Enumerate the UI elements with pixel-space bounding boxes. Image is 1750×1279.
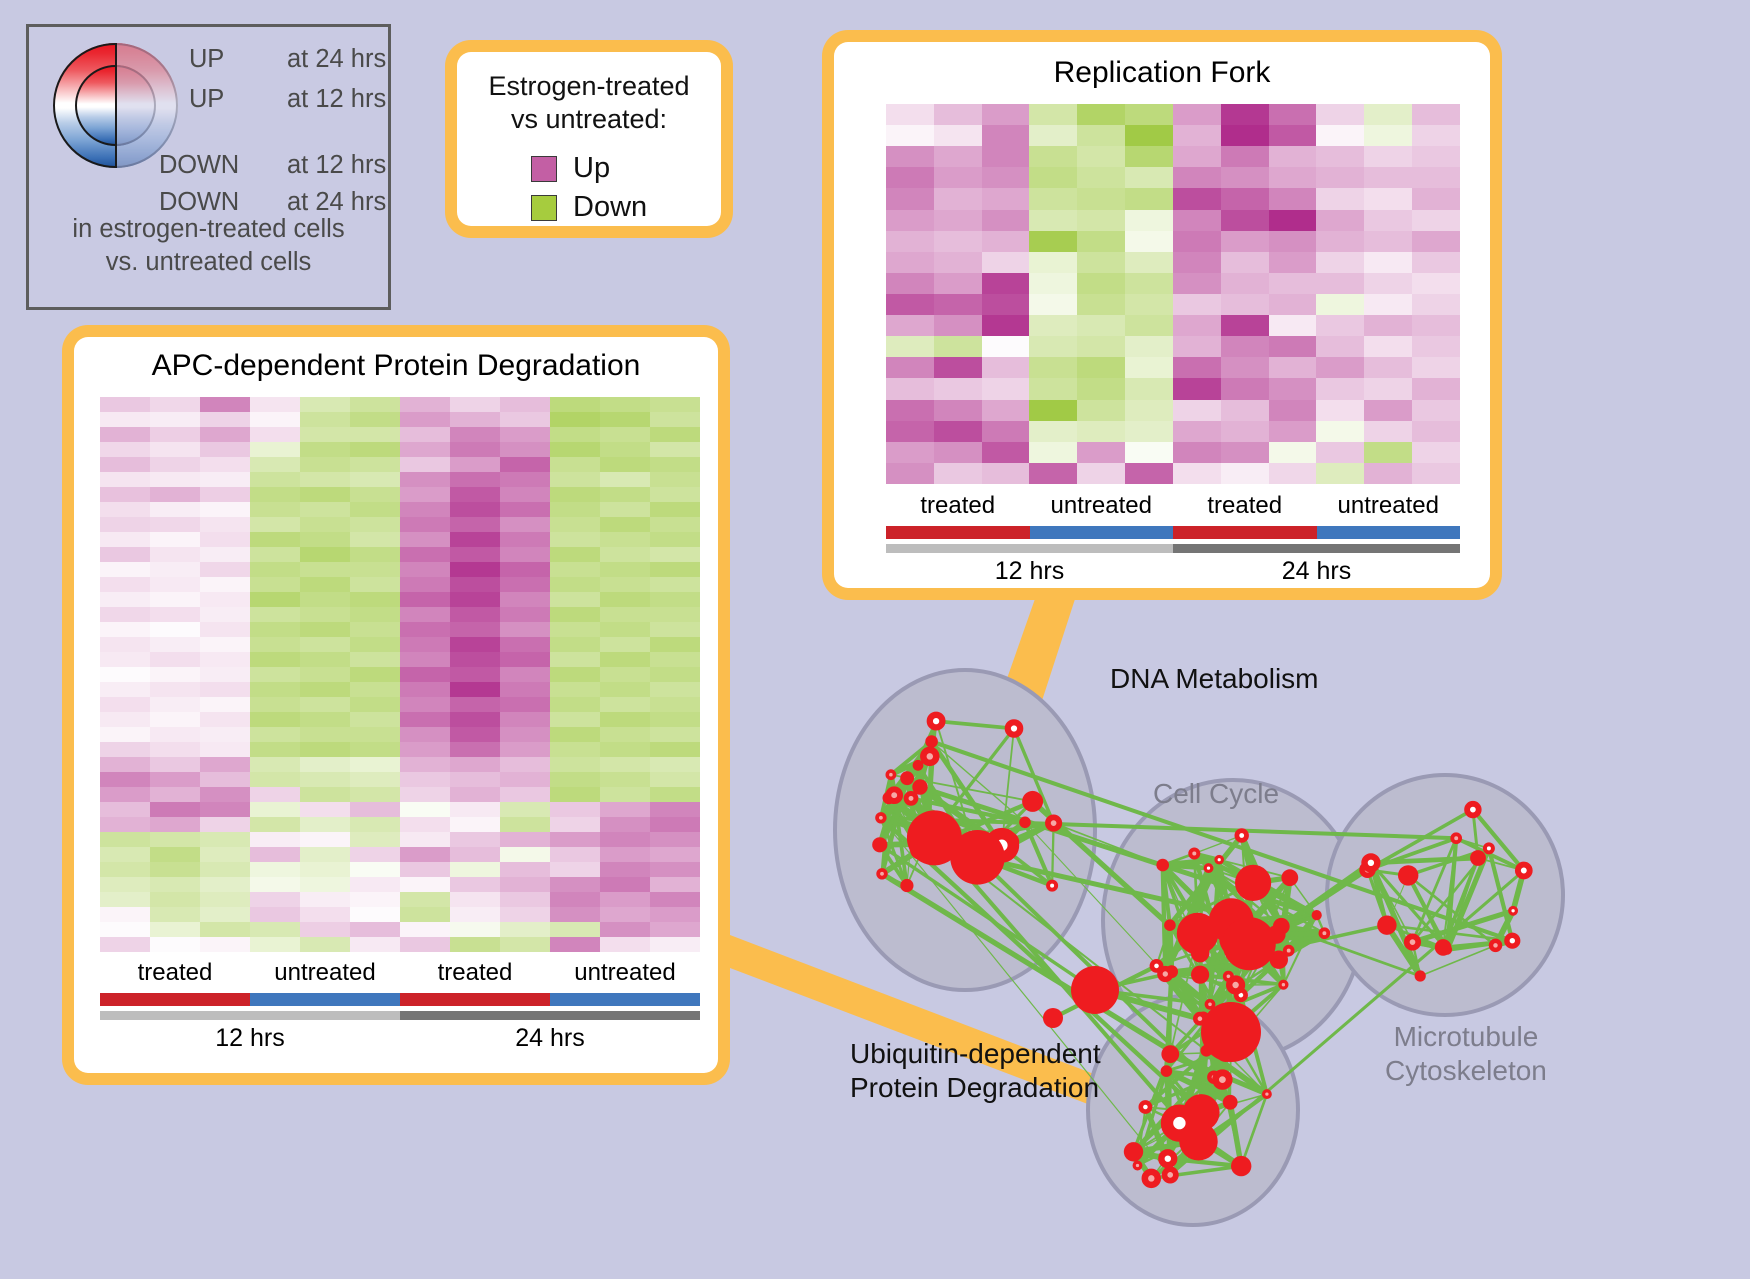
- heatmap-cell: [400, 682, 450, 697]
- heatmap-cell: [982, 463, 1030, 484]
- heatmap-cell: [150, 817, 200, 832]
- heatmap-cell: [200, 742, 250, 757]
- heatmap-cell: [550, 487, 600, 502]
- heatmap-cell: [934, 400, 982, 421]
- heatmap-cell: [1077, 400, 1125, 421]
- heatmap-cell: [350, 892, 400, 907]
- heatmap-cell: [550, 697, 600, 712]
- heatmap-cell: [350, 502, 400, 517]
- apc-degradation-time-labels: 12 hrs24 hrs: [100, 1024, 700, 1053]
- heatmap-cell: [1269, 357, 1317, 378]
- heatmap-cell: [1221, 188, 1269, 209]
- heatmap-cell: [1125, 421, 1173, 442]
- heatmap-cell: [1412, 146, 1460, 167]
- network-node: [1229, 979, 1242, 992]
- heatmap-cell: [400, 757, 450, 772]
- heatmap-cell: [450, 547, 500, 562]
- heatmap-cell: [100, 397, 150, 412]
- heatmap-cell: [1125, 442, 1173, 463]
- heatmap-cell: [450, 457, 500, 472]
- time-label: 12 hrs: [886, 557, 1173, 586]
- heatmap-cell: [1364, 252, 1412, 273]
- heatmap-cell: [100, 427, 150, 442]
- heatmap-cell: [886, 421, 934, 442]
- heatmap-cell: [300, 937, 350, 952]
- condition-bar-segment: [250, 993, 400, 1006]
- heatmap-cell: [600, 517, 650, 532]
- heatmap-cell: [300, 472, 350, 487]
- heatmap-cell: [350, 547, 400, 562]
- heatmap-cell: [600, 412, 650, 427]
- heatmap-cell: [886, 400, 934, 421]
- heatmap-cell: [550, 922, 600, 937]
- network-edge: [1163, 865, 1166, 974]
- heatmap-cell: [1125, 273, 1173, 294]
- heatmap-cell: [350, 682, 400, 697]
- heatmap-cell: [500, 847, 550, 862]
- cluster-label-cell-cycle: Cell Cycle: [1153, 777, 1279, 811]
- heatmap-cell: [982, 104, 1030, 125]
- heatmap-cell: [600, 652, 650, 667]
- heatmap-cell: [100, 667, 150, 682]
- heatmap-cell: [1221, 231, 1269, 252]
- heatmap-cell: [100, 532, 150, 547]
- heatmap-cell: [600, 607, 650, 622]
- heatmap-cell: [1125, 210, 1173, 231]
- heatmap-cell: [500, 907, 550, 922]
- heatmap-cell: [350, 487, 400, 502]
- heatmap-cell: [650, 712, 700, 727]
- network-node: [1156, 859, 1169, 872]
- network-node: [1134, 1162, 1141, 1169]
- heatmap-cell: [1316, 252, 1364, 273]
- heatmap-cell: [150, 727, 200, 742]
- network-node: [1237, 831, 1247, 841]
- heatmap-cell: [250, 472, 300, 487]
- wheel-label-up-12: UP: [189, 85, 224, 114]
- heatmap-cell: [250, 937, 300, 952]
- heatmap-cell: [300, 757, 350, 772]
- heatmap-cell: [400, 547, 450, 562]
- heatmap-cell: [1316, 167, 1364, 188]
- heatmap-cell: [886, 188, 934, 209]
- heatmap-cell: [1364, 357, 1412, 378]
- heatmap-cell: [550, 562, 600, 577]
- heatmap-cell: [150, 682, 200, 697]
- heatmap-cell: [1173, 442, 1221, 463]
- heatmap-cell: [350, 937, 400, 952]
- heatmap-cell: [100, 682, 150, 697]
- heatmap-cell: [250, 592, 300, 607]
- legend-title-line-1: Estrogen-treated: [457, 70, 721, 103]
- heatmap-cell: [500, 787, 550, 802]
- heatmap-cell: [650, 877, 700, 892]
- heatmap-cell: [1412, 463, 1460, 484]
- microtubule-label-line-1: Microtubule: [1385, 1020, 1547, 1054]
- heatmap-cell: [1029, 463, 1077, 484]
- heatmap-cell: [300, 697, 350, 712]
- heatmap-cell: [400, 652, 450, 667]
- heatmap-cell: [450, 667, 500, 682]
- heatmap-cell: [400, 847, 450, 862]
- heatmap-cell: [1125, 400, 1173, 421]
- wheel-divider: [115, 43, 117, 168]
- heatmap-cell: [1221, 357, 1269, 378]
- condition-bar-segment: [100, 993, 250, 1006]
- heatmap-cell: [500, 667, 550, 682]
- heatmap-cell: [450, 712, 500, 727]
- heatmap-cell: [350, 772, 400, 787]
- heatmap-cell: [1221, 442, 1269, 463]
- replication-fork-panel-inner: Replication Fork treateduntreatedtreated…: [834, 42, 1490, 588]
- heatmap-cell: [1029, 104, 1077, 125]
- heatmap-cell: [150, 442, 200, 457]
- heatmap-cell: [350, 802, 400, 817]
- heatmap-cell: [200, 727, 250, 742]
- cluster-label-microtubule-cytoskeleton: Microtubule Cytoskeleton: [1385, 1020, 1547, 1087]
- heatmap-cell: [100, 592, 150, 607]
- network-node: [1160, 969, 1171, 980]
- heatmap-cell: [450, 517, 500, 532]
- heatmap-cell: [200, 832, 250, 847]
- heatmap-cell: [650, 637, 700, 652]
- heatmap-cell: [1269, 210, 1317, 231]
- heatmap-cell: [400, 697, 450, 712]
- apc-degradation-panel: APC-dependent Protein Degradation treate…: [62, 325, 730, 1085]
- heatmap-cell: [650, 652, 700, 667]
- heatmap-cell: [1029, 146, 1077, 167]
- heatmap-cell: [300, 397, 350, 412]
- heatmap-cell: [1269, 378, 1317, 399]
- heatmap-cell: [982, 400, 1030, 421]
- heatmap-cell: [650, 607, 700, 622]
- heatmap-cell: [1029, 273, 1077, 294]
- caption-line-2: vs. untreated cells: [29, 246, 388, 279]
- heatmap-cell: [934, 442, 982, 463]
- heatmap-cell: [400, 442, 450, 457]
- heatmap-cell: [650, 457, 700, 472]
- heatmap-cell: [550, 727, 600, 742]
- legend-panel-inner: Estrogen-treated vs untreated: Up Down: [457, 52, 721, 226]
- heatmap-cell: [1221, 463, 1269, 484]
- heatmap-cell: [150, 562, 200, 577]
- heatmap-cell: [1316, 442, 1364, 463]
- heatmap-cell: [1173, 463, 1221, 484]
- network-node: [1161, 1152, 1174, 1165]
- heatmap-cell: [200, 607, 250, 622]
- heatmap-cell: [250, 457, 300, 472]
- heatmap-cell: [1029, 252, 1077, 273]
- replication-fork-panel: Replication Fork treateduntreatedtreated…: [822, 30, 1502, 600]
- heatmap-cell: [650, 862, 700, 877]
- heatmap-cell: [350, 472, 400, 487]
- heatmap-cell: [550, 877, 600, 892]
- heatmap-cell: [934, 252, 982, 273]
- heatmap-cell: [100, 712, 150, 727]
- heatmap-cell: [1269, 146, 1317, 167]
- heatmap-cell: [300, 547, 350, 562]
- heatmap-cell: [934, 104, 982, 125]
- heatmap-cell: [100, 742, 150, 757]
- heatmap-cell: [450, 937, 500, 952]
- time-bar-segment: [400, 1011, 700, 1020]
- heatmap-cell: [150, 757, 200, 772]
- heatmap-cell: [300, 892, 350, 907]
- legend-row-up: Up: [531, 152, 610, 185]
- heatmap-cell: [1412, 273, 1460, 294]
- caption-line-1: in estrogen-treated cells: [29, 213, 388, 246]
- heatmap-cell: [650, 532, 700, 547]
- heatmap-cell: [1412, 357, 1460, 378]
- heatmap-cell: [600, 427, 650, 442]
- heatmap-cell: [550, 712, 600, 727]
- heatmap-cell: [1077, 104, 1125, 125]
- heatmap-cell: [500, 727, 550, 742]
- network-node: [872, 837, 887, 852]
- heatmap-cell: [650, 787, 700, 802]
- heatmap-cell: [200, 412, 250, 427]
- heatmap-group-label: untreated: [250, 959, 400, 987]
- heatmap-cell: [650, 562, 700, 577]
- replication-fork-time-labels: 12 hrs24 hrs: [886, 557, 1460, 586]
- heatmap-cell: [350, 832, 400, 847]
- heatmap-cell: [350, 667, 400, 682]
- heatmap-cell: [886, 210, 934, 231]
- heatmap-cell: [300, 922, 350, 937]
- heatmap-cell: [1269, 188, 1317, 209]
- heatmap-cell: [150, 907, 200, 922]
- wheel-label-up-24: UP: [189, 45, 224, 74]
- heatmap-cell: [450, 877, 500, 892]
- heatmap-cell: [350, 592, 400, 607]
- heatmap-cell: [500, 802, 550, 817]
- heatmap-cell: [400, 412, 450, 427]
- heatmap-cell: [1364, 378, 1412, 399]
- heatmap-cell: [886, 167, 934, 188]
- heatmap-group-label: treated: [100, 959, 250, 987]
- network-node: [1510, 908, 1517, 915]
- heatmap-cell: [250, 697, 300, 712]
- heatmap-cell: [250, 832, 300, 847]
- heatmap-cell: [1125, 378, 1173, 399]
- heatmap-cell: [982, 336, 1030, 357]
- heatmap-cell: [650, 727, 700, 742]
- heatmap-cell: [1412, 188, 1460, 209]
- heatmap-cell: [934, 273, 982, 294]
- heatmap-cell: [600, 472, 650, 487]
- heatmap-cell: [250, 877, 300, 892]
- heatmap-cell: [982, 188, 1030, 209]
- cluster-label-dna-metabolism: DNA Metabolism: [1110, 662, 1319, 696]
- heatmap-cell: [1173, 210, 1221, 231]
- heatmap-cell: [100, 577, 150, 592]
- heatmap-cell: [886, 442, 934, 463]
- heatmap-cell: [1316, 231, 1364, 252]
- heatmap-cell: [450, 682, 500, 697]
- heatmap-cell: [650, 427, 700, 442]
- heatmap-cell: [550, 757, 600, 772]
- heatmap-cell: [650, 802, 700, 817]
- heatmap-cell: [450, 442, 500, 457]
- heatmap-cell: [1077, 125, 1125, 146]
- network-node: [900, 879, 913, 892]
- heatmap-cell: [550, 742, 600, 757]
- apc-degradation-group-labels: treateduntreatedtreateduntreated: [100, 959, 700, 987]
- heatmap-cell: [550, 442, 600, 457]
- heatmap-cell: [250, 487, 300, 502]
- heatmap-cell: [300, 412, 350, 427]
- heatmap-cell: [300, 517, 350, 532]
- heatmap-cell: [400, 892, 450, 907]
- heatmap-cell: [600, 487, 650, 502]
- heatmap-cell: [886, 125, 934, 146]
- heatmap-cell: [1412, 315, 1460, 336]
- heatmap-cell: [1221, 273, 1269, 294]
- heatmap-cell: [550, 832, 600, 847]
- heatmap-cell: [300, 832, 350, 847]
- heatmap-cell: [600, 682, 650, 697]
- heatmap-cell: [650, 772, 700, 787]
- heatmap-cell: [350, 607, 400, 622]
- heatmap-cell: [886, 146, 934, 167]
- heatmap-cell: [200, 577, 250, 592]
- network-svg: [795, 600, 1750, 1279]
- heatmap-cell: [350, 412, 400, 427]
- heatmap-cell: [1077, 252, 1125, 273]
- heatmap-cell: [450, 832, 500, 847]
- network-node: [877, 814, 885, 822]
- heatmap-cell: [300, 577, 350, 592]
- network-node: [1019, 817, 1031, 829]
- heatmap-cell: [400, 427, 450, 442]
- time-label: 12 hrs: [100, 1024, 400, 1053]
- heatmap-cell: [250, 907, 300, 922]
- heatmap-cell: [1316, 210, 1364, 231]
- heatmap-cell: [500, 487, 550, 502]
- network-node: [1043, 1008, 1063, 1028]
- apc-degradation-time-bar: [100, 1011, 700, 1020]
- heatmap-cell: [350, 712, 400, 727]
- heatmap-cell: [150, 742, 200, 757]
- legend-label-down: Down: [573, 191, 647, 224]
- condition-bar-segment: [1173, 526, 1317, 539]
- heatmap-cell: [1029, 188, 1077, 209]
- heatmap-cell: [400, 592, 450, 607]
- heatmap-cell: [982, 210, 1030, 231]
- heatmap-cell: [350, 727, 400, 742]
- heatmap-cell: [1077, 315, 1125, 336]
- heatmap-cell: [150, 877, 200, 892]
- heatmap-cell: [1173, 104, 1221, 125]
- heatmap-cell: [500, 427, 550, 442]
- heatmap-cell: [100, 787, 150, 802]
- heatmap-cell: [350, 817, 400, 832]
- heatmap-cell: [400, 787, 450, 802]
- heatmap-cell: [600, 832, 650, 847]
- heatmap-cell: [1269, 231, 1317, 252]
- heatmap-cell: [350, 847, 400, 862]
- replication-fork-title: Replication Fork: [834, 56, 1490, 90]
- network-node: [1264, 1091, 1271, 1098]
- heatmap-cell: [934, 378, 982, 399]
- heatmap-cell: [1364, 125, 1412, 146]
- heatmap-cell: [200, 667, 250, 682]
- heatmap-cell: [1173, 188, 1221, 209]
- heatmap-cell: [1364, 421, 1412, 442]
- heatmap-cell: [150, 577, 200, 592]
- heatmap-cell: [1412, 400, 1460, 421]
- heatmap-cell: [150, 532, 200, 547]
- heatmap-cell: [200, 877, 250, 892]
- network-node: [1491, 941, 1500, 950]
- heatmap-cell: [1173, 125, 1221, 146]
- heatmap-cell: [300, 742, 350, 757]
- heatmap-cell: [1125, 463, 1173, 484]
- microtubule-label-line-2: Cytoskeleton: [1385, 1054, 1547, 1088]
- network-node: [1167, 1111, 1192, 1136]
- heatmap-cell: [150, 922, 200, 937]
- heatmap-cell: [1269, 294, 1317, 315]
- heatmap-cell: [1221, 421, 1269, 442]
- heatmap-cell: [200, 592, 250, 607]
- heatmap-cell: [100, 487, 150, 502]
- heatmap-cell: [450, 817, 500, 832]
- legend-title: Estrogen-treated vs untreated:: [457, 70, 721, 136]
- heatmap-cell: [400, 742, 450, 757]
- heatmap-cell: [600, 577, 650, 592]
- heatmap-cell: [100, 517, 150, 532]
- heatmap-cell: [550, 682, 600, 697]
- heatmap-cell: [300, 562, 350, 577]
- heatmap-cell: [1077, 146, 1125, 167]
- heatmap-cell: [100, 922, 150, 937]
- heatmap-cell: [600, 787, 650, 802]
- heatmap-cell: [200, 697, 250, 712]
- heatmap-cell: [1125, 315, 1173, 336]
- heatmap-cell: [1412, 104, 1460, 125]
- heatmap-cell: [250, 892, 300, 907]
- heatmap-cell: [200, 922, 250, 937]
- heatmap-cell: [450, 577, 500, 592]
- network-node: [1191, 966, 1209, 984]
- heatmap-cell: [1029, 294, 1077, 315]
- network-node: [925, 735, 938, 748]
- heatmap-cell: [300, 802, 350, 817]
- heatmap-cell: [200, 892, 250, 907]
- heatmap-cell: [982, 146, 1030, 167]
- heatmap-cell: [600, 727, 650, 742]
- heatmap-cell: [1173, 294, 1221, 315]
- heatmap-cell: [450, 487, 500, 502]
- heatmap-group-label: untreated: [1317, 492, 1461, 520]
- heatmap-cell: [1077, 378, 1125, 399]
- heatmap-cell: [1221, 400, 1269, 421]
- heatmap-cell: [350, 562, 400, 577]
- heatmap-cell: [400, 832, 450, 847]
- heatmap-cell: [300, 847, 350, 862]
- heatmap-cell: [450, 907, 500, 922]
- colour-wheel-diagram: [53, 43, 178, 168]
- heatmap-cell: [500, 682, 550, 697]
- heatmap-cell: [1316, 400, 1364, 421]
- heatmap-cell: [1412, 378, 1460, 399]
- heatmap-cell: [400, 577, 450, 592]
- heatmap-cell: [150, 937, 200, 952]
- heatmap-cell: [150, 652, 200, 667]
- heatmap-cell: [450, 847, 500, 862]
- heatmap-cell: [1412, 336, 1460, 357]
- heatmap-cell: [1412, 442, 1460, 463]
